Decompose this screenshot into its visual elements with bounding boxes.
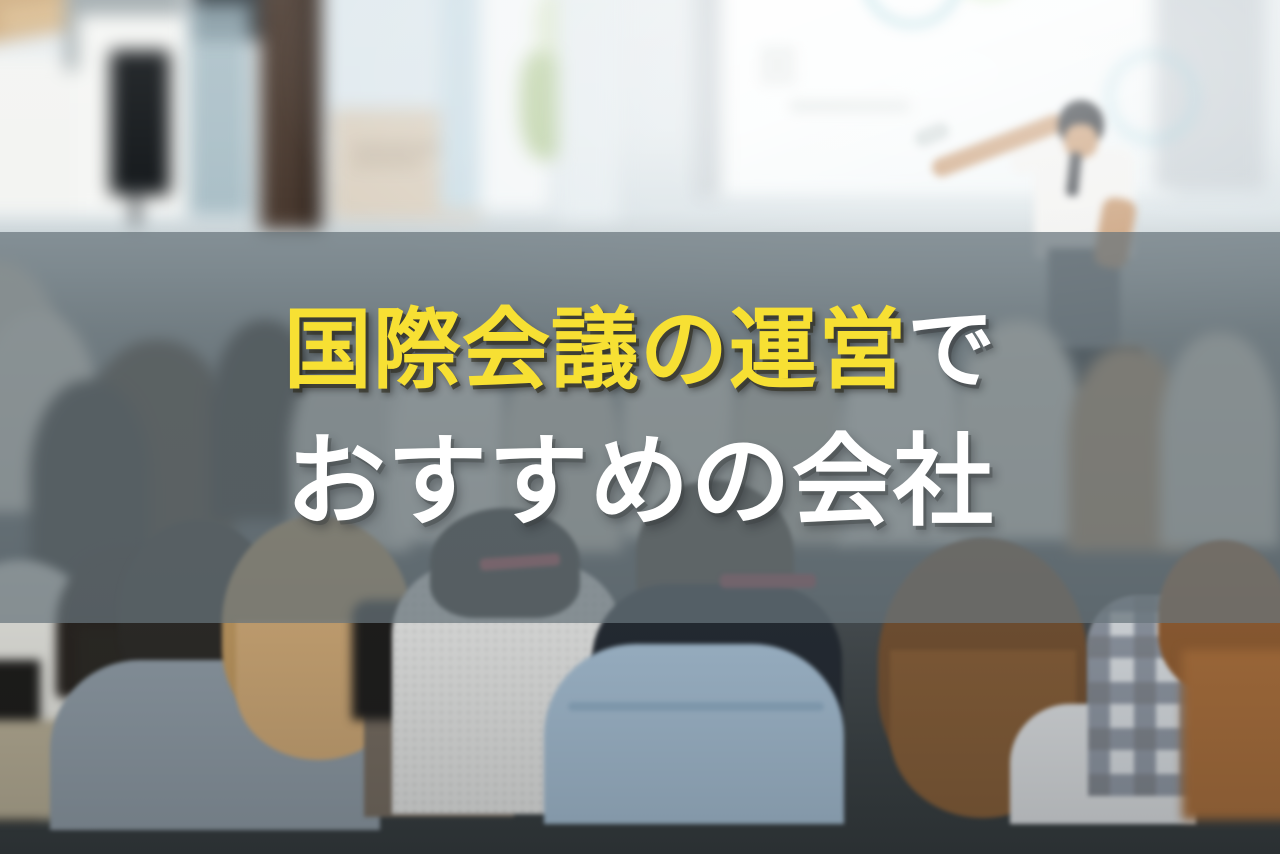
- signage-text-line: [352, 145, 442, 150]
- signage-text-line: [352, 160, 422, 165]
- pale-column: [558, 0, 618, 220]
- slide-text-blur: [790, 100, 910, 112]
- headline-line-1: 国際会議の運営で: [0, 306, 1280, 394]
- column-shadow: [300, 0, 322, 230]
- projection-screen-edge: [695, 0, 721, 200]
- slide-text-blur: [760, 45, 796, 85]
- hero-banner: 国際会議の運営で おすすめの会社: [0, 0, 1280, 854]
- speaker-stand: [132, 185, 139, 225]
- slide-circle-graphic: [1105, 50, 1199, 144]
- loudspeaker-icon: [110, 50, 170, 195]
- window-glass: [188, 5, 250, 215]
- wall-panel-left: [0, 55, 90, 215]
- headline-line-1-white: で: [907, 298, 996, 401]
- denim-shirt-fold: [568, 702, 824, 711]
- audience-figure-far-right: [1182, 650, 1280, 820]
- headline-line-1-yellow: 国際会議の運営: [284, 298, 907, 401]
- audience-shirt-denim: [544, 644, 844, 824]
- headline-line-2: おすすめの会社: [0, 432, 1280, 532]
- headline-line-2-white: おすすめの会社: [286, 423, 994, 540]
